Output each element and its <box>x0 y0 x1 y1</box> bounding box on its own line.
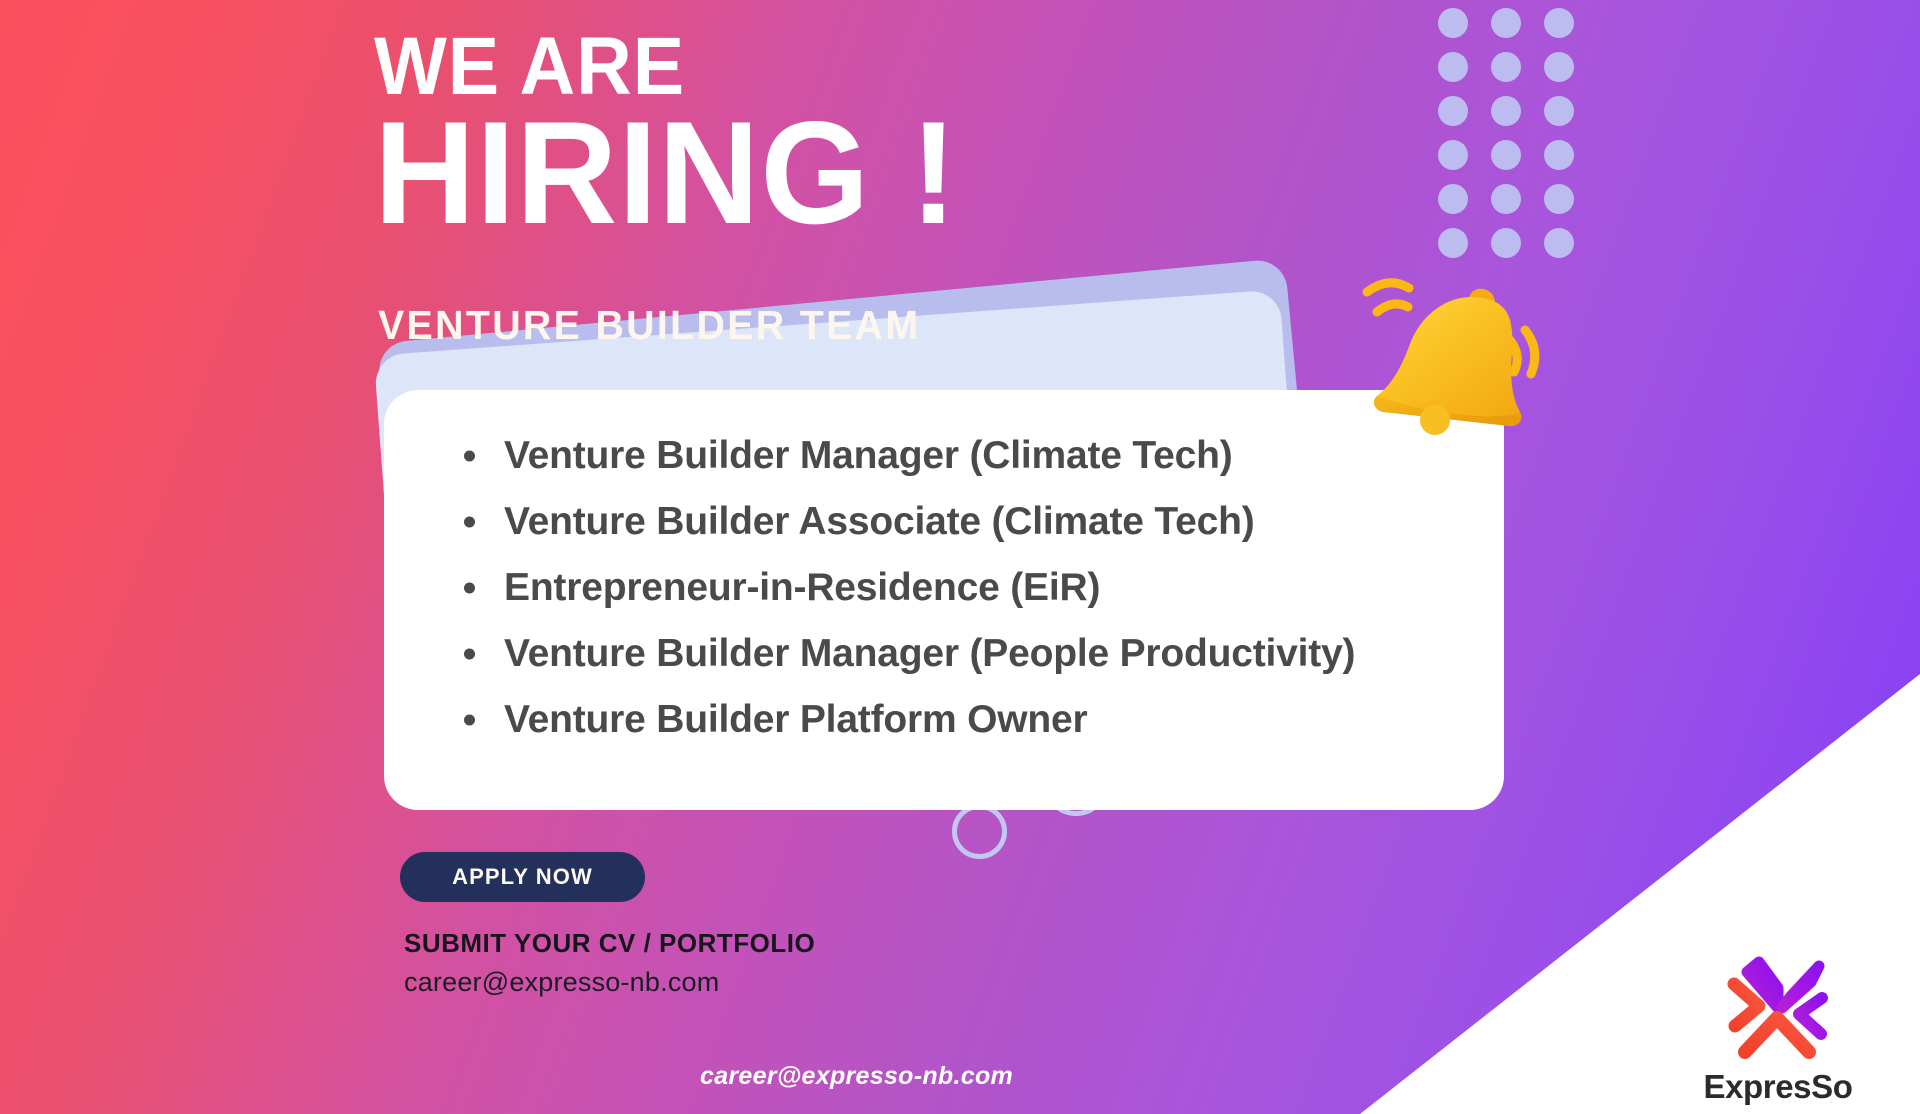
grid-dot <box>1438 184 1468 214</box>
bullet-icon <box>464 648 475 659</box>
job-title: Venture Builder Manager (Climate Tech) <box>504 434 1233 477</box>
grid-dot <box>1438 140 1468 170</box>
contact-block: SUBMIT YOUR CV / PORTFOLIO career@expres… <box>404 928 815 998</box>
grid-dot <box>1438 8 1468 38</box>
team-subtitle: VENTURE BUILDER TEAM <box>378 302 920 349</box>
list-item: Venture Builder Manager (Climate Tech) <box>464 436 1504 475</box>
bell-icon <box>1332 252 1547 437</box>
page-title: WE ARE HIRING ! <box>374 28 982 244</box>
dot-grid-decoration <box>1438 8 1597 272</box>
grid-dot <box>1438 96 1468 126</box>
hiring-poster: WE ARE HIRING ! VENTURE BUILDER TEAM Ven… <box>0 0 1920 1114</box>
grid-dot <box>1544 52 1574 82</box>
grid-dot <box>1491 8 1521 38</box>
brand-wordmark: ExpresSo <box>1688 1068 1868 1106</box>
job-title: Entrepreneur-in-Residence (EiR) <box>504 566 1100 609</box>
list-item: Venture Builder Associate (Climate Tech) <box>464 502 1504 541</box>
job-list-card: Venture Builder Manager (Climate Tech) V… <box>384 390 1504 810</box>
grid-dot <box>1491 52 1521 82</box>
grid-dot <box>1544 228 1574 258</box>
bullet-icon <box>464 450 475 461</box>
grid-dot <box>1544 140 1574 170</box>
grid-dot <box>1544 8 1574 38</box>
brand-logo: ExpresSo <box>1688 952 1868 1106</box>
grid-dot <box>1491 140 1521 170</box>
grid-dot <box>1438 52 1468 82</box>
headline-line-2: HIRING ! <box>374 102 958 244</box>
ring-decoration-small <box>952 804 1007 859</box>
job-title: Venture Builder Platform Owner <box>504 698 1087 741</box>
job-list: Venture Builder Manager (Climate Tech) V… <box>384 390 1504 739</box>
grid-dot <box>1544 184 1574 214</box>
job-title: Venture Builder Manager (People Producti… <box>504 632 1355 675</box>
apply-now-button[interactable]: APPLY NOW <box>400 852 645 902</box>
bullet-icon <box>464 582 475 593</box>
list-item: Venture Builder Manager (People Producti… <box>464 634 1504 673</box>
list-item: Entrepreneur-in-Residence (EiR) <box>464 568 1504 607</box>
footer-email[interactable]: career@expresso-nb.com <box>700 1062 1013 1091</box>
bullet-icon <box>464 714 475 725</box>
grid-dot <box>1491 184 1521 214</box>
submit-cv-label: SUBMIT YOUR CV / PORTFOLIO <box>404 928 815 959</box>
bullet-icon <box>464 516 475 527</box>
job-title: Venture Builder Associate (Climate Tech) <box>504 500 1255 543</box>
contact-email[interactable]: career@expresso-nb.com <box>404 967 815 998</box>
list-item: Venture Builder Platform Owner <box>464 700 1504 739</box>
expresso-x-logo-icon <box>1719 952 1837 1064</box>
grid-dot <box>1544 96 1574 126</box>
grid-dot <box>1491 96 1521 126</box>
